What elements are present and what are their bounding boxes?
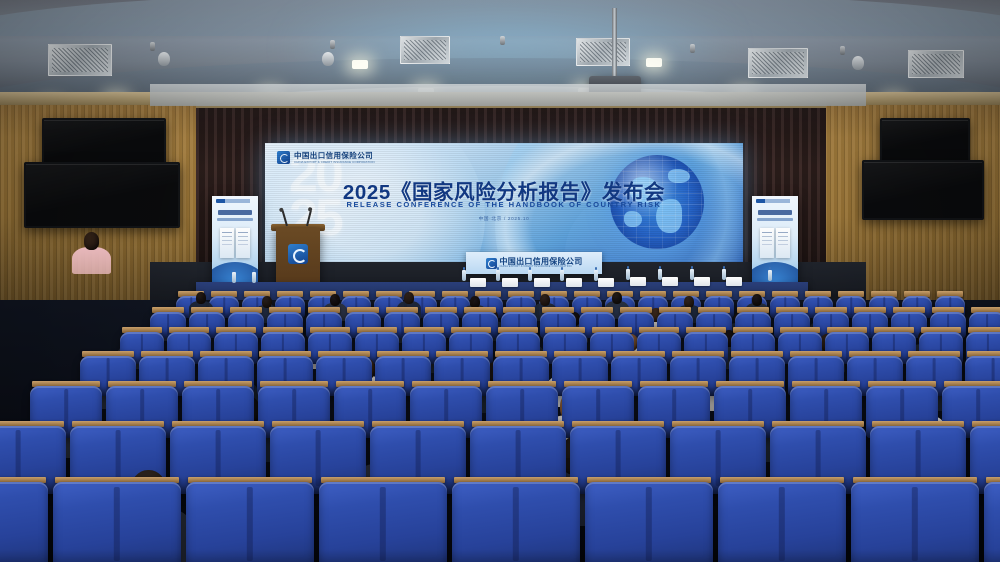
name-placard [726, 277, 742, 286]
sprinkler-head [840, 46, 845, 55]
auditorium-seat[interactable] [585, 482, 713, 562]
projector-mount-rod [612, 8, 617, 78]
water-bottle [594, 270, 598, 281]
auditorium-seat[interactable] [0, 482, 48, 562]
wall-monitor-upper-right [880, 118, 970, 162]
person-head [612, 292, 622, 304]
banner-logo-left [216, 199, 254, 203]
banner-report-cover-b-left [236, 228, 250, 258]
ceiling-air-vent [48, 44, 112, 76]
ceiling-speaker [852, 56, 864, 70]
screen-meta: 中国·北京 / 2025.10 [265, 216, 743, 222]
led-main-screen: 2025 中国出口信用保险公司 CHINA EXPORT & CREDIT IN… [265, 143, 743, 268]
conference-hall-photo: 2025 中国出口信用保险公司 CHINA EXPORT & CREDIT IN… [0, 0, 1000, 562]
banner-logo-right [756, 199, 794, 203]
person-head [196, 292, 206, 304]
sinosure-logo-icon [277, 151, 290, 164]
org-name-en: CHINA EXPORT & CREDIT INSURANCE CORPORAT… [294, 161, 375, 164]
head-table-backdrop: 中国出口信用保险公司 CHINA EXPORT & CREDIT INSURAN… [466, 252, 602, 274]
wall-monitor-lower-right [862, 160, 984, 220]
water-bottle [252, 272, 256, 283]
rollup-banner-right [752, 196, 798, 290]
banner-report-cover-a-left [220, 228, 234, 258]
podium-logo-plate [288, 244, 308, 264]
water-bottle [722, 269, 726, 280]
ceiling-downlight [352, 60, 368, 69]
auditorium-seat[interactable] [53, 482, 181, 562]
auditorium-seat[interactable] [984, 482, 1000, 562]
name-placard [630, 277, 646, 286]
name-placard [694, 277, 710, 286]
water-bottle [560, 270, 564, 281]
water-bottle [232, 272, 236, 283]
water-bottle [496, 270, 500, 281]
stage-soffit [150, 84, 866, 106]
auditorium-seat[interactable] [452, 482, 580, 562]
water-bottle [626, 269, 630, 280]
auditorium-seat[interactable] [319, 482, 447, 562]
stage-org-name-en: CHINA EXPORT & CREDIT INSURANCE CORPORAT… [500, 266, 583, 269]
person-head [470, 296, 480, 308]
auditorium-seat[interactable] [851, 482, 979, 562]
sprinkler-head [150, 42, 155, 51]
name-placard [662, 277, 678, 286]
name-placard [598, 278, 614, 287]
banner-report-cover-a-right [760, 228, 774, 258]
ceiling-speaker [158, 52, 170, 66]
person-head [540, 294, 550, 306]
banner-heading-right [758, 210, 792, 215]
ceiling-downlight [646, 58, 662, 67]
ceiling-air-vent [400, 36, 450, 64]
person-head [330, 294, 340, 306]
banner-sub-left [217, 218, 253, 221]
sprinkler-head [330, 40, 335, 49]
banner-sub-right [757, 218, 793, 221]
water-bottle [528, 270, 532, 281]
water-bottle [768, 270, 772, 281]
person-head [684, 296, 694, 308]
org-name-cn: 中国出口信用保险公司 [294, 152, 375, 160]
name-placard [502, 278, 518, 287]
banner-report-cover-b-right [776, 228, 790, 258]
person-head [84, 232, 99, 250]
ceiling-speaker [322, 52, 334, 66]
screen-subtitle: RELEASE CONFERENCE OF THE HANDBOOK OF CO… [265, 200, 743, 209]
sinosure-logo-icon-stage [486, 258, 497, 269]
sprinkler-head [500, 36, 505, 45]
water-bottle [658, 269, 662, 280]
name-placard [534, 278, 550, 287]
person-head [404, 292, 414, 304]
auditorium-seat[interactable] [186, 482, 314, 562]
screen-org-logo: 中国出口信用保险公司 CHINA EXPORT & CREDIT INSURAN… [277, 151, 375, 164]
water-bottle [462, 270, 466, 281]
person-shoulders [72, 247, 111, 274]
name-placard [470, 278, 486, 287]
person-head [262, 296, 272, 308]
auditorium-seat[interactable] [718, 482, 846, 562]
banner-heading-left [218, 210, 252, 215]
ceiling-air-vent [908, 50, 964, 78]
ceiling-air-vent [748, 48, 808, 78]
water-bottle [690, 269, 694, 280]
ceiling-air-vent [576, 38, 630, 66]
person-head [752, 294, 762, 306]
name-placard [566, 278, 582, 287]
sprinkler-head [690, 44, 695, 53]
wall-monitor-lower-left [24, 162, 180, 228]
